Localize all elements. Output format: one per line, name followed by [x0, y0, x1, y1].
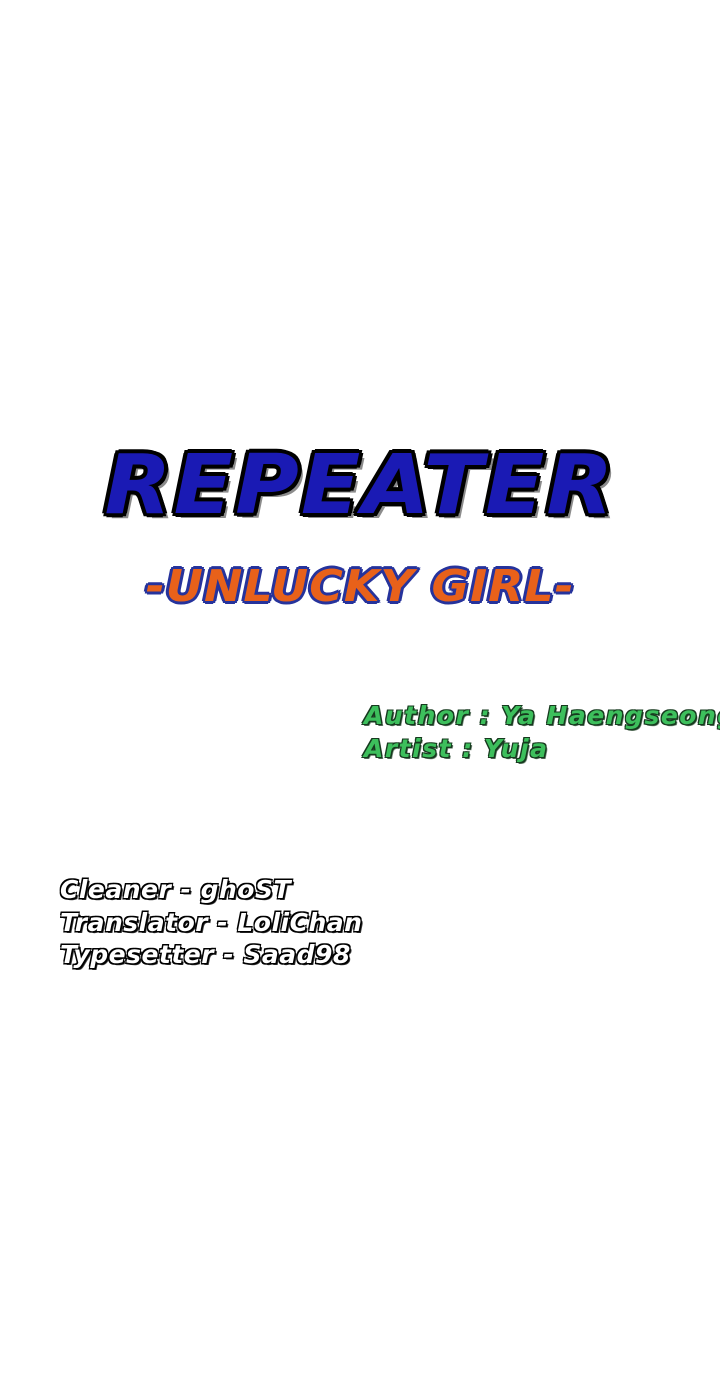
page-title: REPEATER: [105, 443, 616, 528]
subtitle-block: -UNLUCKY GIRL-: [0, 564, 720, 611]
cleaner-credit-line: Cleaner - ghoST: [60, 874, 362, 907]
author-credits-block: Author : Ya Haengseong Artist : Yuja: [364, 699, 720, 765]
staff-credits-block: Cleaner - ghoST Translator - LoliChan Ty…: [60, 874, 362, 972]
title-block: REPEATER: [0, 443, 720, 528]
author-credit-line: Author : Ya Haengseong: [364, 699, 720, 732]
typesetter-credit-line: Typesetter - Saad98: [60, 939, 362, 972]
artist-credit-line: Artist : Yuja: [364, 732, 720, 765]
page-subtitle: -UNLUCKY GIRL-: [146, 564, 575, 611]
comic-title-page: REPEATER -UNLUCKY GIRL- Author : Ya Haen…: [0, 0, 720, 1400]
translator-credit-line: Translator - LoliChan: [60, 907, 362, 940]
